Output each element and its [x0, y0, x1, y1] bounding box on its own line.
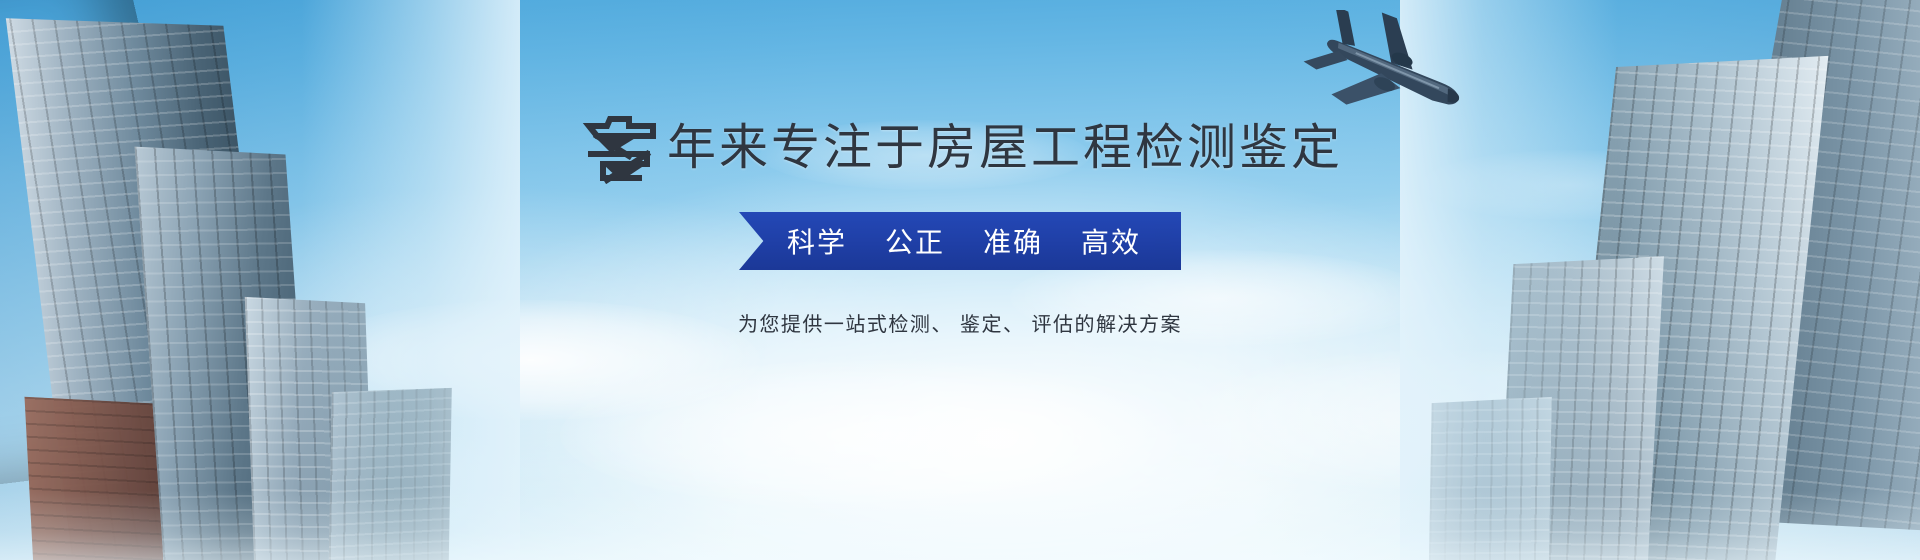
slogan-item: 高效 — [1081, 221, 1141, 261]
headline: 年来专注于房屋工程检测鉴定 — [0, 112, 1920, 184]
slogan-item: 准确 — [983, 221, 1043, 261]
slogan-ribbon-wrap: 科学 公正 准确 高效 — [0, 212, 1920, 270]
duo-character-mark-icon — [577, 112, 663, 184]
banner-subtitle: 为您提供一站式检测、 鉴定、 评估的解决方案 — [0, 308, 1920, 337]
headline-text: 年来专注于房屋工程检测鉴定 — [667, 124, 1343, 173]
banner-content: 年来专注于房屋工程检测鉴定 科学 公正 准确 高效 为您提供一站式检测、 鉴定、… — [0, 0, 1920, 560]
slogan-item: 公正 — [885, 221, 945, 261]
slogan-items: 科学 公正 准确 高效 — [753, 221, 1167, 261]
slogan-item: 科学 — [787, 221, 847, 261]
hero-banner: 年来专注于房屋工程检测鉴定 科学 公正 准确 高效 为您提供一站式检测、 鉴定、… — [0, 0, 1920, 560]
slogan-ribbon: 科学 公正 准确 高效 — [739, 212, 1181, 270]
ribbon-right-notch — [1155, 212, 1181, 270]
